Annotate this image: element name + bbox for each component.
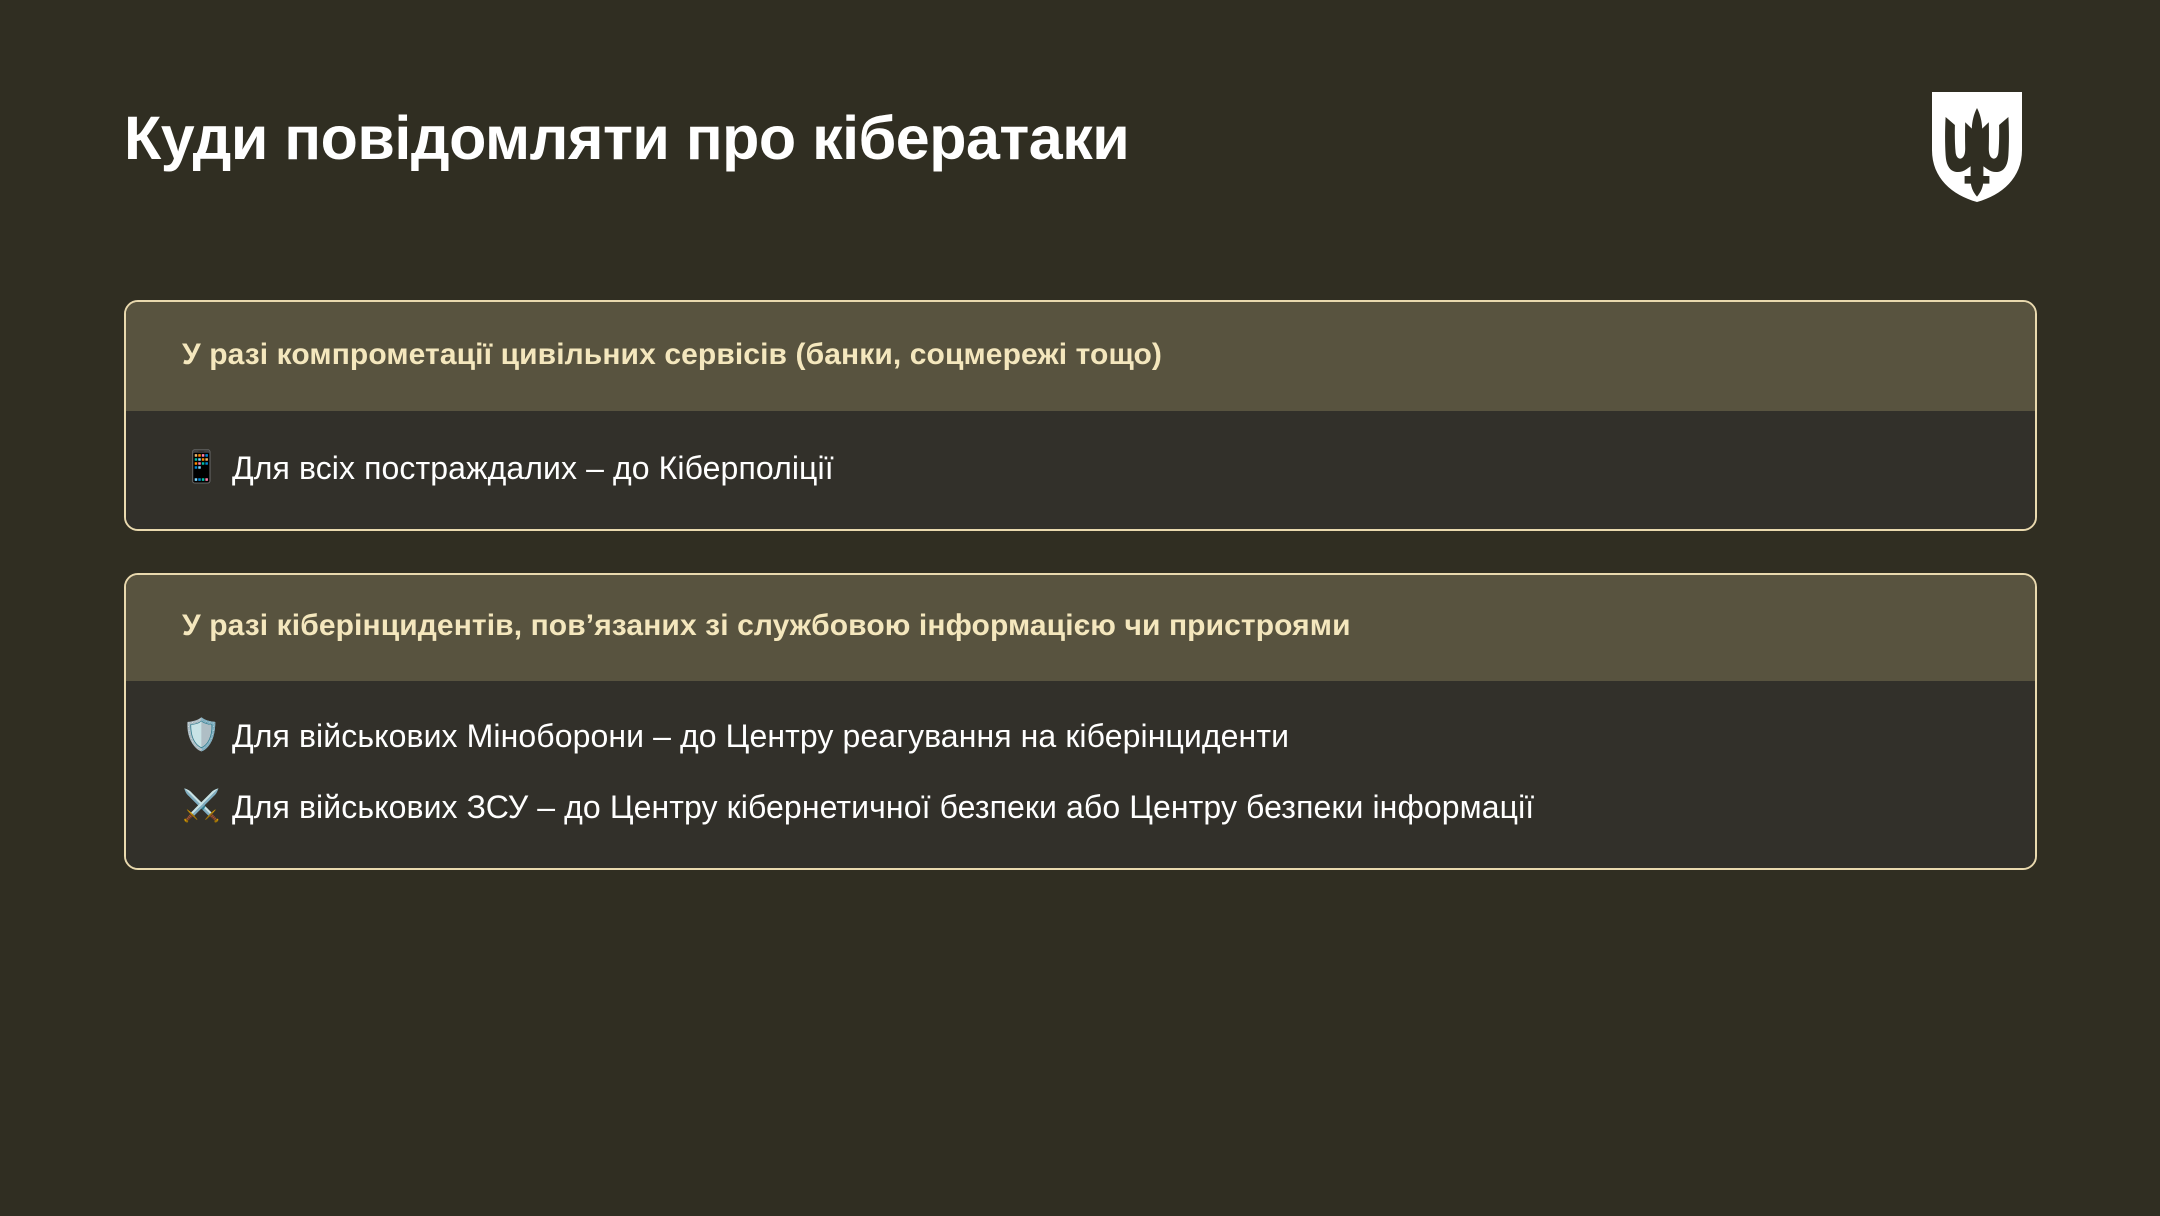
list-item-label: Для всіх постраждалих – до Кіберполіції (232, 447, 1979, 489)
ukraine-trident-shield-icon (1932, 92, 2022, 202)
card-civil-services-body: 📱 Для всіх постраждалих – до Кіберполіці… (126, 411, 2035, 529)
card-military-incidents-header-text: У разі кіберінцидентів, пов’язаних зі сл… (182, 605, 1979, 648)
slide-root: Куди повідомляти про кібератаки У разі к… (0, 0, 2160, 1216)
card-military-incidents-body: 🛡️ Для військових Міноборони – до Центру… (126, 681, 2035, 867)
list-item: 🛡️ Для військових Міноборони – до Центру… (182, 715, 1979, 757)
list-item: ⚔️ Для військових ЗСУ – до Центру кіберн… (182, 786, 1979, 828)
slide-header: Куди повідомляти про кібератаки (0, 0, 2160, 250)
crossed-swords-icon: ⚔️ (182, 786, 218, 826)
list-item-label: Для військових Міноборони – до Центру ре… (232, 715, 1979, 757)
list-item: 📱 Для всіх постраждалих – до Кіберполіці… (182, 447, 1979, 489)
card-military-incidents: У разі кіберінцидентів, пов’язаних зі сл… (124, 573, 2037, 870)
card-civil-services-header-text: У разі компрометації цивільних сервісів … (182, 334, 1979, 377)
card-civil-services: У разі компрометації цивільних сервісів … (124, 300, 2037, 531)
cards-container: У разі компрометації цивільних сервісів … (124, 300, 2037, 870)
card-civil-services-header: У разі компрометації цивільних сервісів … (126, 302, 2035, 411)
card-military-incidents-header: У разі кіберінцидентів, пов’язаних зі сл… (126, 575, 2035, 682)
mobile-phone-icon: 📱 (182, 447, 218, 487)
page-title: Куди повідомляти про кібератаки (124, 105, 1129, 172)
list-item-label: Для військових ЗСУ – до Центру кібернети… (232, 786, 1979, 828)
shield-icon: 🛡️ (182, 715, 218, 755)
